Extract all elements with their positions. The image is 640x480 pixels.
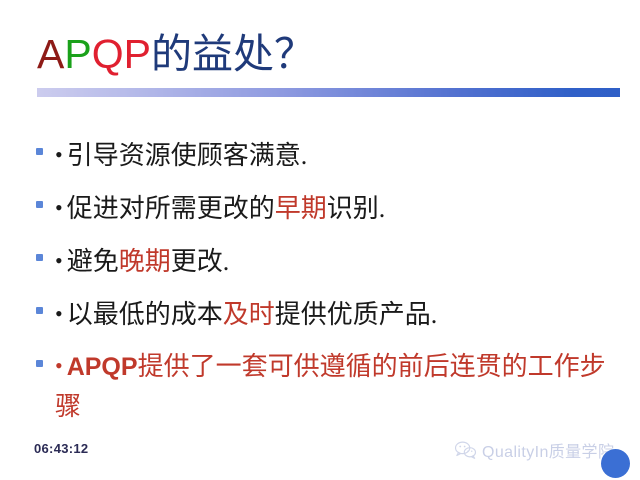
title-letter-a: A bbox=[37, 31, 64, 77]
presentation-slide: APQP的益处？ •引导资源使顾客满意. •促进对所需更改的早期识别. •避免晚… bbox=[0, 0, 640, 480]
inline-dot-icon: • bbox=[55, 248, 67, 273]
list-item: •以最低的成本及时提供优质产品. bbox=[36, 293, 616, 336]
bullet-3-segment-0: 以最低的成本 bbox=[67, 300, 223, 329]
bullet-1-highlight: 早期 bbox=[275, 194, 327, 223]
square-bullet-icon bbox=[36, 360, 43, 367]
title-chinese-text: 的益处？ bbox=[151, 31, 315, 77]
bullet-3-highlight: 及时 bbox=[223, 300, 275, 329]
square-bullet-icon bbox=[36, 254, 43, 261]
corner-badge-circle bbox=[601, 449, 630, 478]
watermark-label: QualityIn质量学院 bbox=[482, 438, 614, 462]
list-item: •APQP提供了一套可供遵循的前后连贯的工作步骤 bbox=[36, 346, 616, 427]
inline-dot-icon: • bbox=[55, 142, 67, 167]
square-bullet-icon bbox=[36, 148, 43, 155]
bullet-3-segment-2: 提供优质产品. bbox=[275, 300, 438, 329]
slide-timestamp: 06:43:12 bbox=[34, 441, 88, 456]
bullet-1-segment-2: 识别. bbox=[327, 194, 386, 223]
list-item-text: •以最低的成本及时提供优质产品. bbox=[55, 293, 616, 336]
list-item: •促进对所需更改的早期识别. bbox=[36, 187, 616, 230]
list-item-text: •促进对所需更改的早期识别. bbox=[55, 187, 616, 230]
inline-dot-icon: • bbox=[55, 301, 67, 326]
bullet-4-segment-0: 提供了一套可供遵循的前后连贯的工作步骤 bbox=[55, 352, 606, 421]
list-item-text: •引导资源使顾客满意. bbox=[55, 134, 616, 177]
list-item-text: •APQP提供了一套可供遵循的前后连贯的工作步骤 bbox=[55, 346, 616, 427]
bullet-2-highlight: 晚期 bbox=[119, 247, 171, 276]
bullet-2-segment-2: 更改. bbox=[171, 247, 230, 276]
list-item: •引导资源使顾客满意. bbox=[36, 134, 616, 177]
slide-title: APQP的益处？ bbox=[37, 29, 617, 83]
inline-dot-icon: • bbox=[55, 353, 67, 378]
title-letter-p1: P bbox=[64, 31, 91, 77]
bullet-list: •引导资源使顾客满意. •促进对所需更改的早期识别. •避免晚期更改. •以最低… bbox=[36, 134, 616, 437]
wechat-icon bbox=[455, 441, 477, 459]
bullet-0-segment-0: 引导资源使顾客满意. bbox=[67, 141, 308, 170]
square-bullet-icon bbox=[36, 307, 43, 314]
title-divider-bar bbox=[37, 88, 620, 97]
bullet-1-segment-0: 促进对所需更改的 bbox=[67, 194, 275, 223]
inline-dot-icon: • bbox=[55, 195, 67, 220]
list-item: •避免晚期更改. bbox=[36, 240, 616, 283]
square-bullet-icon bbox=[36, 201, 43, 208]
bullet-2-segment-0: 避免 bbox=[67, 247, 119, 276]
title-letter-p2: P bbox=[124, 31, 151, 77]
bullet-4-acronym: APQP bbox=[67, 353, 138, 381]
list-item-text: •避免晚期更改. bbox=[55, 240, 616, 283]
watermark: QualityIn质量学院 bbox=[455, 438, 614, 462]
title-letter-q: Q bbox=[92, 31, 124, 77]
